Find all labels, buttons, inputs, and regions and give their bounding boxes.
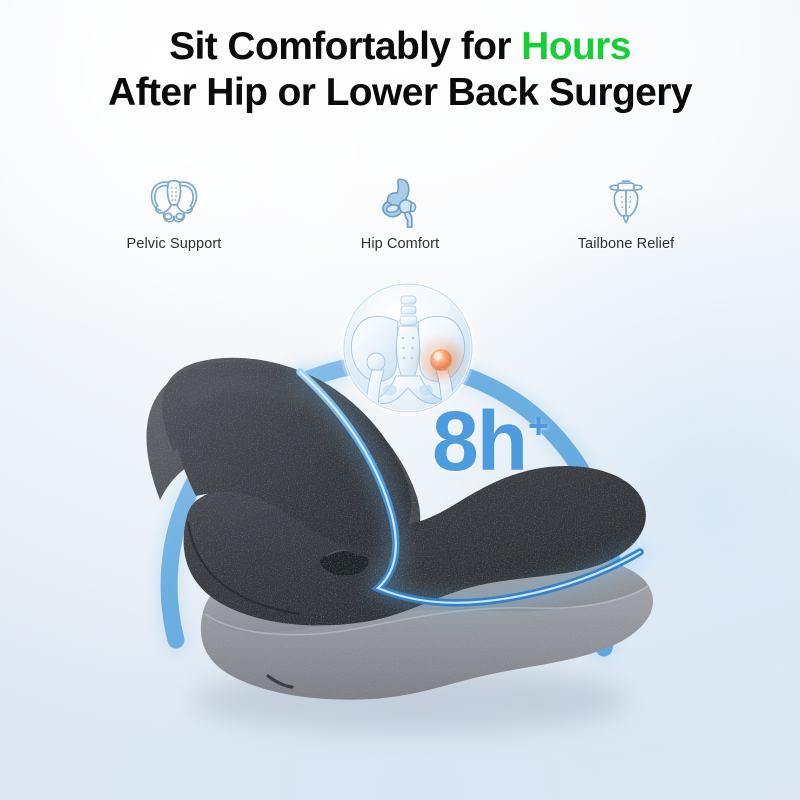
feature-label-hip-comfort: Hip Comfort <box>361 236 439 252</box>
product-scene <box>0 0 800 800</box>
feature-pelvic-support: Pelvic Support <box>99 176 249 252</box>
feature-tailbone-relief: Tailbone Relief <box>551 176 701 252</box>
feature-hip-comfort: Hip Comfort <box>325 176 475 252</box>
tailbone-sacrum-icon <box>598 176 654 228</box>
feature-label-tailbone-relief: Tailbone Relief <box>578 236 675 252</box>
pelvis-icon <box>146 176 202 228</box>
headline-line-1: Sit Comfortably for Hours <box>0 24 800 70</box>
product-marketing-image: Sit Comfortably for Hours After Hip or L… <box>0 0 800 800</box>
headline-line-1-text: Sit Comfortably for <box>169 25 521 68</box>
headline: Sit Comfortably for Hours After Hip or L… <box>0 24 800 116</box>
duration-badge-value: 8h <box>432 404 526 480</box>
headline-line-2: After Hip or Lower Back Surgery <box>0 70 800 116</box>
duration-badge-superscript: + <box>528 410 549 442</box>
feature-row: Pelvic Support Hip <box>0 176 800 252</box>
hip-joint-icon <box>372 176 428 228</box>
duration-badge: 8h + <box>432 404 549 480</box>
headline-accent-word: Hours <box>521 25 631 68</box>
feature-label-pelvic-support: Pelvic Support <box>127 236 222 252</box>
